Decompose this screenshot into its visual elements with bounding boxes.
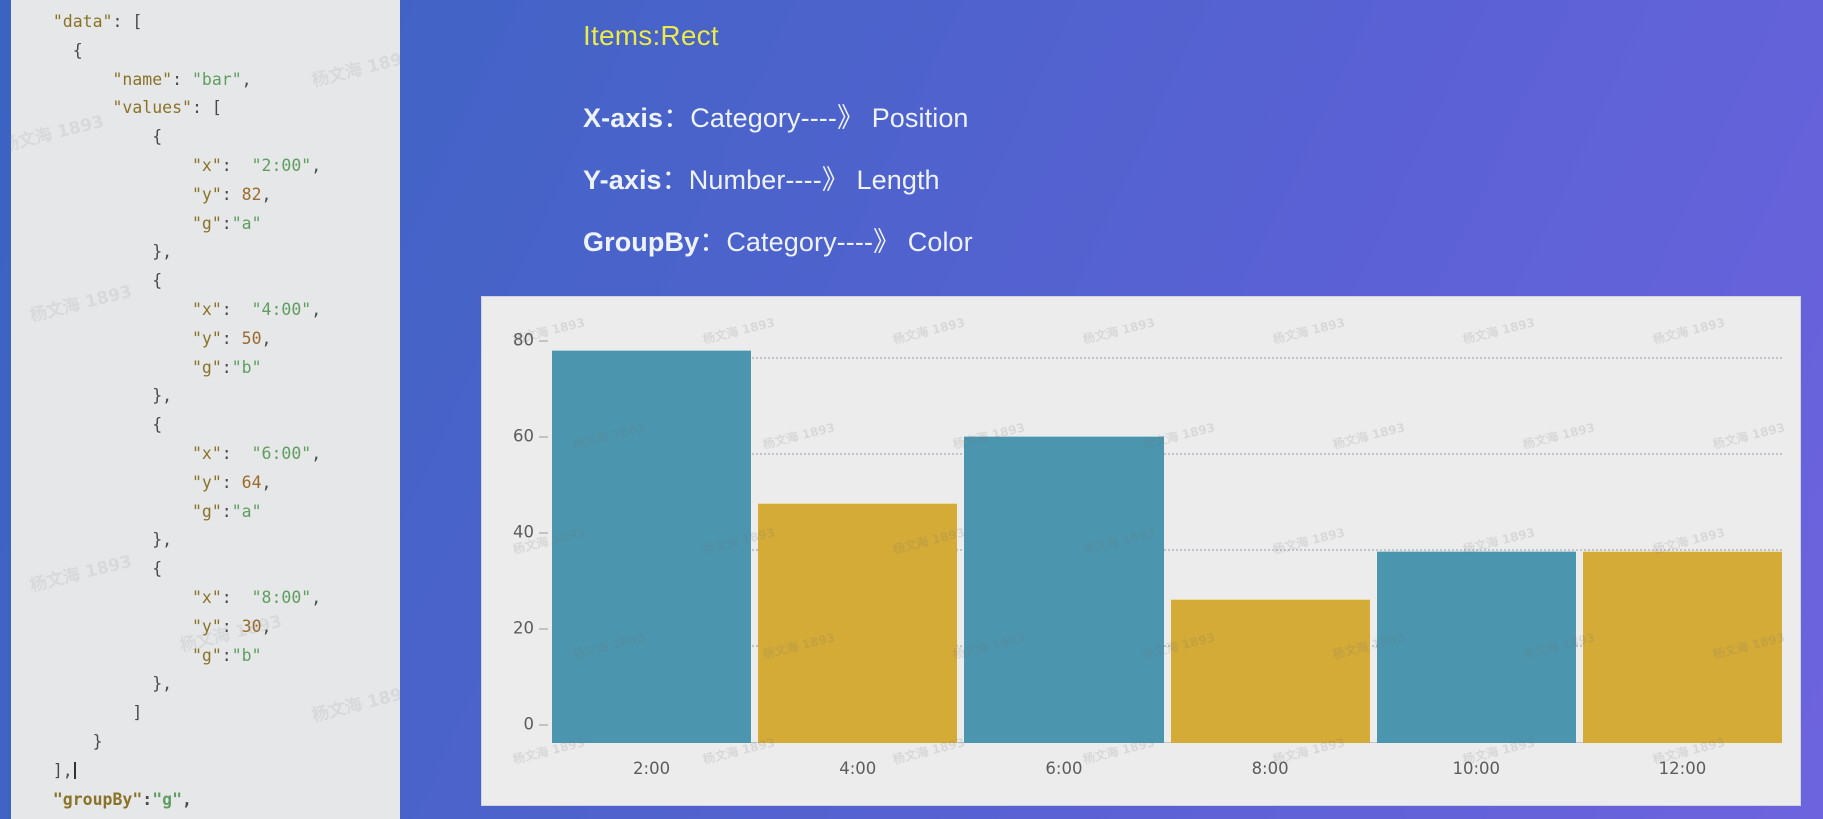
mapping-label: X-axis	[583, 103, 663, 133]
code-line: ],	[33, 757, 400, 786]
code-line: "x": "2:00",	[33, 152, 400, 181]
code-line: "name": "bar",	[33, 66, 400, 95]
mapping-arrow-icon: ----》	[837, 227, 900, 257]
code-line: {	[33, 555, 400, 584]
bar[interactable]	[964, 436, 1163, 743]
code-line: "x": "8:00",	[33, 584, 400, 613]
code-line: {	[33, 411, 400, 440]
code-line: {	[33, 123, 400, 152]
mapping-arrow-icon: ----》	[801, 103, 864, 133]
code-line: "x": "4:00",	[33, 296, 400, 325]
code-line: {	[33, 267, 400, 296]
mapping-target: Color	[900, 227, 973, 257]
mapping-separator: ：	[699, 227, 726, 257]
code-line: }	[33, 728, 400, 757]
y-axis-tick-label: 20	[513, 619, 552, 638]
code-line: "y": 30,	[33, 613, 400, 642]
chart-panel: 020406080 2:004:006:008:0010:0012:00 杨文海…	[481, 296, 1801, 806]
code-line: "y": 50,	[33, 325, 400, 354]
plot-area: 020406080 2:004:006:008:0010:0012:00	[552, 321, 1782, 743]
bar-column[interactable]: 8:00	[1171, 321, 1370, 743]
mapping-source: Number	[689, 165, 786, 195]
code-line: "groupBy":"g",	[33, 786, 400, 815]
y-axis-tick-label: 40	[513, 523, 552, 542]
x-axis-tick-label: 6:00	[964, 759, 1163, 778]
bar-column[interactable]: 4:00	[758, 321, 957, 743]
mapping-separator: ：	[663, 103, 690, 133]
mapping-source: Category	[726, 227, 836, 257]
text-cursor	[74, 762, 76, 779]
x-axis-tick-label: 8:00	[1171, 759, 1370, 778]
json-code-editor[interactable]: "data": [ { "name": "bar", "values": [ {…	[8, 0, 400, 819]
code-line: },	[33, 670, 400, 699]
code-line: },	[33, 382, 400, 411]
bar[interactable]	[1583, 551, 1782, 743]
bar[interactable]	[1377, 551, 1576, 743]
code-line: },	[33, 238, 400, 267]
code-line: "g":"b"	[33, 642, 400, 671]
x-axis-tick-label: 2:00	[552, 759, 751, 778]
mapping-source: Category	[690, 103, 800, 133]
code-line: "g":"a"	[33, 498, 400, 527]
code-line: "g":"a"	[33, 210, 400, 239]
channel-mapping-list: X-axis：Category----》 PositionY-axis：Numb…	[583, 96, 1283, 259]
bar[interactable]	[1171, 599, 1370, 743]
mapping-target: Position	[864, 103, 968, 133]
code-line: "y": 82,	[33, 181, 400, 210]
code-line: "g":"b"	[33, 354, 400, 383]
bar-column[interactable]: 6:00	[964, 321, 1163, 743]
mapping-line-x-axis: X-axis：Category----》 Position	[583, 96, 1283, 135]
code-line: },	[33, 526, 400, 555]
code-line: ]	[33, 699, 400, 728]
mapping-arrow-icon: ----》	[785, 165, 848, 195]
mapping-target: Length	[849, 165, 940, 195]
code-line: "data": [	[33, 8, 400, 37]
mapping-line-groupby: GroupBy：Category----》 Color	[583, 220, 1283, 259]
y-axis-tick-label: 60	[513, 427, 552, 446]
x-axis-tick-label: 12:00	[1583, 759, 1782, 778]
x-axis-tick-label: 10:00	[1377, 759, 1576, 778]
bar-series: 2:004:006:008:0010:0012:00	[552, 321, 1782, 743]
mapping-line-y-axis: Y-axis：Number----》 Length	[583, 158, 1283, 197]
code-line: {	[33, 37, 400, 66]
code-line: "y": 64,	[33, 469, 400, 498]
bar-column[interactable]: 12:00	[1583, 321, 1782, 743]
bar-column[interactable]: 2:00	[552, 321, 751, 743]
code-line: "x": "6:00",	[33, 440, 400, 469]
bar[interactable]	[758, 503, 957, 743]
y-axis-tick-label: 80	[513, 331, 552, 350]
bar[interactable]	[552, 350, 751, 743]
x-axis-tick-label: 4:00	[758, 759, 957, 778]
chart-spec-header: Items:Rect X-axis：Category----》 Position…	[583, 20, 1283, 282]
mapping-separator: ：	[662, 165, 689, 195]
bar-column[interactable]: 10:00	[1377, 321, 1576, 743]
mapping-label: GroupBy	[583, 227, 699, 257]
page-title: Items:Rect	[583, 20, 1283, 52]
y-axis-tick-label: 0	[524, 715, 553, 734]
mapping-label: Y-axis	[583, 165, 662, 195]
code-line: "values": [	[33, 94, 400, 123]
